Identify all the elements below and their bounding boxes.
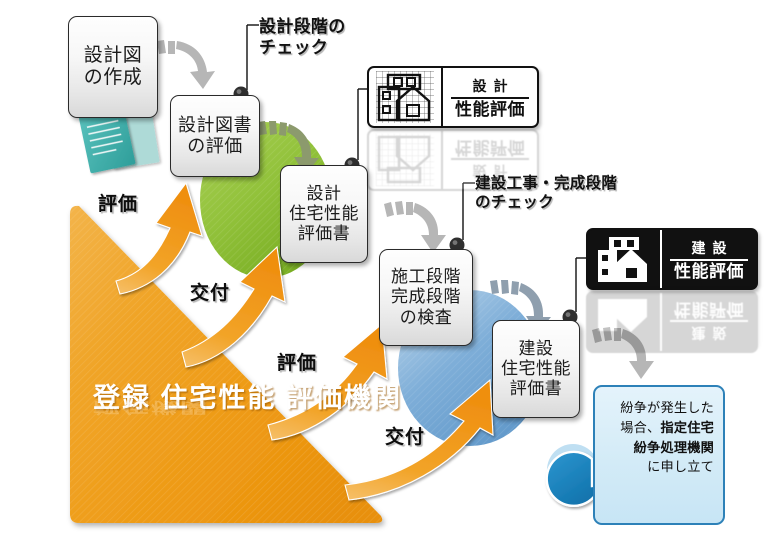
dispute-line-2: 場合、指定住宅 (604, 418, 714, 438)
box-line: 設計図 (84, 45, 143, 67)
box-line: 評価書 (501, 379, 571, 399)
dispute-line-3: 紛争処理機関 (604, 438, 714, 458)
mark-bottom-text: 性能評価 (451, 101, 529, 118)
callout-line: 設計段階の (259, 17, 346, 36)
dispute-line-2-bold: 指定住宅 (660, 420, 714, 435)
box-line: 住宅性能 (289, 204, 359, 224)
leader-construction-stage-check (450, 183, 476, 253)
box-design-document-evaluation[interactable]: 設計図書 の評価 (170, 95, 260, 177)
dispute-line-4: に申し立て (604, 457, 714, 477)
mark-bottom-text: 性能評価 (670, 263, 748, 280)
design-performance-mark: 設計 性能評価 設計 性能評価 (367, 66, 539, 191)
box-line: 住宅性能 (501, 359, 571, 379)
callout-line: のチェック (475, 194, 554, 211)
organization-reflection: 評価機関 (93, 398, 402, 417)
box-design-housing-performance-certificate[interactable]: 設計 住宅性能 評価書 (280, 165, 368, 263)
box-line: 評価書 (289, 224, 359, 244)
box-line: の作成 (84, 67, 143, 89)
verb-delivery-2: 交付 (385, 422, 425, 449)
callout-line: チェック (259, 38, 328, 57)
leader-construction-mark (563, 258, 589, 325)
mark-reflection: 建設 性能評価 (586, 291, 758, 353)
leader-design-stage-check (234, 25, 260, 102)
mark-text: 建設 性能評価 (660, 230, 756, 288)
mark-top-text: 建設 (670, 238, 748, 261)
verb-delivery-1: 交付 (190, 278, 230, 305)
box-construction-housing-performance-certificate[interactable]: 建設 住宅性能 評価書 (492, 320, 580, 418)
box-line: の検査 (391, 308, 461, 328)
box-line: 建設 (501, 339, 571, 359)
mark-plate: 設計 性能評価 (367, 66, 539, 128)
dispute-line-1: 紛争が発生した (604, 398, 714, 418)
box-construction-inspection[interactable]: 施工段階 完成段階 の検査 (379, 249, 473, 346)
box-line: の評価 (178, 136, 252, 157)
diagram-canvas: 設計図 の作成 設計図書 の評価 設計 住宅性能 評価書 施工段階 完成段階 の… (0, 0, 770, 538)
verb-evaluation-1: 評価 (98, 189, 138, 216)
mark-top-text: 設計 (451, 76, 529, 99)
callout-line: 建設工事・完成段階 (475, 175, 617, 192)
motion-arrow-3 (384, 201, 446, 253)
mark-text: 設計 性能評価 (441, 68, 537, 126)
verb-evaluation-2: 評価 (277, 348, 317, 375)
house-solid-icon (588, 230, 660, 288)
box-line: 完成段階 (391, 287, 461, 307)
callout-construction-stage-check: 建設工事・完成段階 のチェック (475, 174, 617, 212)
callout-design-stage-check: 設計段階の チェック (259, 16, 346, 58)
box-design-drawing[interactable]: 設計図 の作成 (68, 16, 158, 118)
dispute-line-3-bold: 紛争処理機関 (634, 440, 714, 455)
box-line: 設計図書 (178, 115, 252, 136)
organization-label: 登録 住宅性能 評価機関 評価機関 (93, 381, 402, 451)
dispute-line-2-normal: 場合、 (620, 420, 660, 435)
dispute-resolution-box[interactable]: 紛争が発生した 場合、指定住宅 紛争処理機関 に申し立て (593, 385, 725, 525)
mark-plate: 建設 性能評価 (586, 228, 758, 290)
house-blueprint-icon (369, 68, 441, 126)
box-line: 設計 (289, 184, 359, 204)
construction-performance-mark: 建設 性能評価 建設 性能評価 (586, 228, 758, 353)
box-line: 施工段階 (391, 267, 461, 287)
